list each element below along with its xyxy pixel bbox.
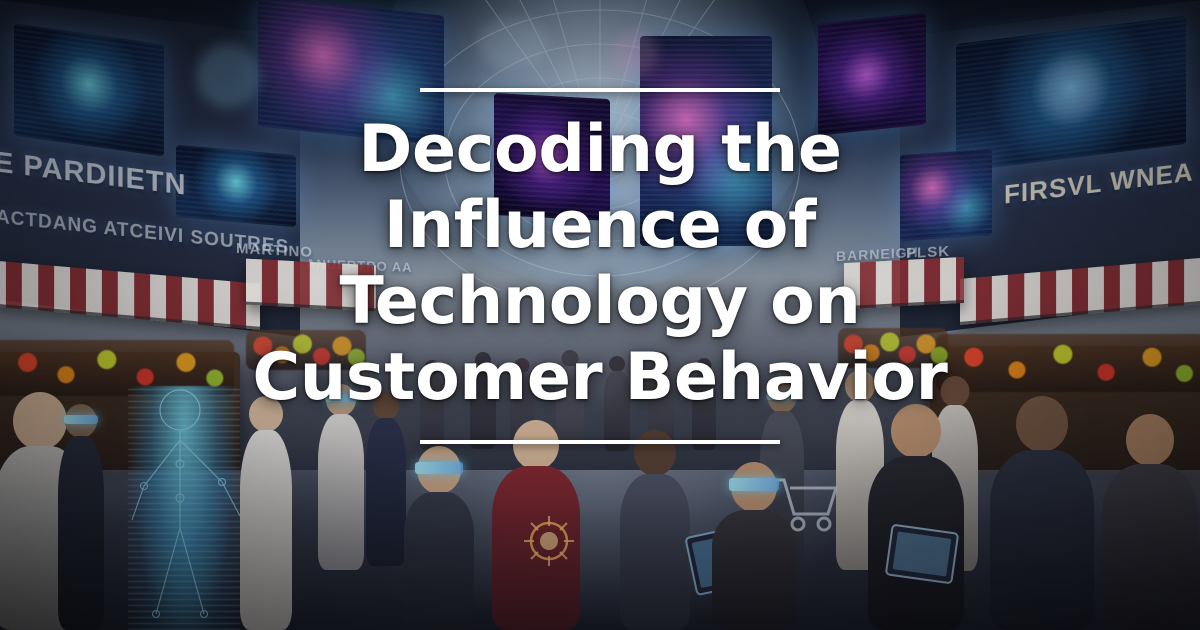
headline-line-1: Decoding the — [100, 112, 1100, 188]
divider-bottom — [420, 440, 780, 444]
headline-line-3: Technology on — [100, 264, 1100, 340]
headline-line-2: Influence of — [100, 188, 1100, 264]
divider-top — [420, 88, 780, 92]
page-title: Decoding the Influence of Technology on … — [100, 112, 1100, 416]
title-block: Decoding the Influence of Technology on … — [0, 88, 1200, 444]
headline-line-4: Customer Behavior — [100, 340, 1100, 416]
hero-banner: E PARDIIETN ACTDANG ATCEIVI SOUTRES MART… — [0, 0, 1200, 630]
